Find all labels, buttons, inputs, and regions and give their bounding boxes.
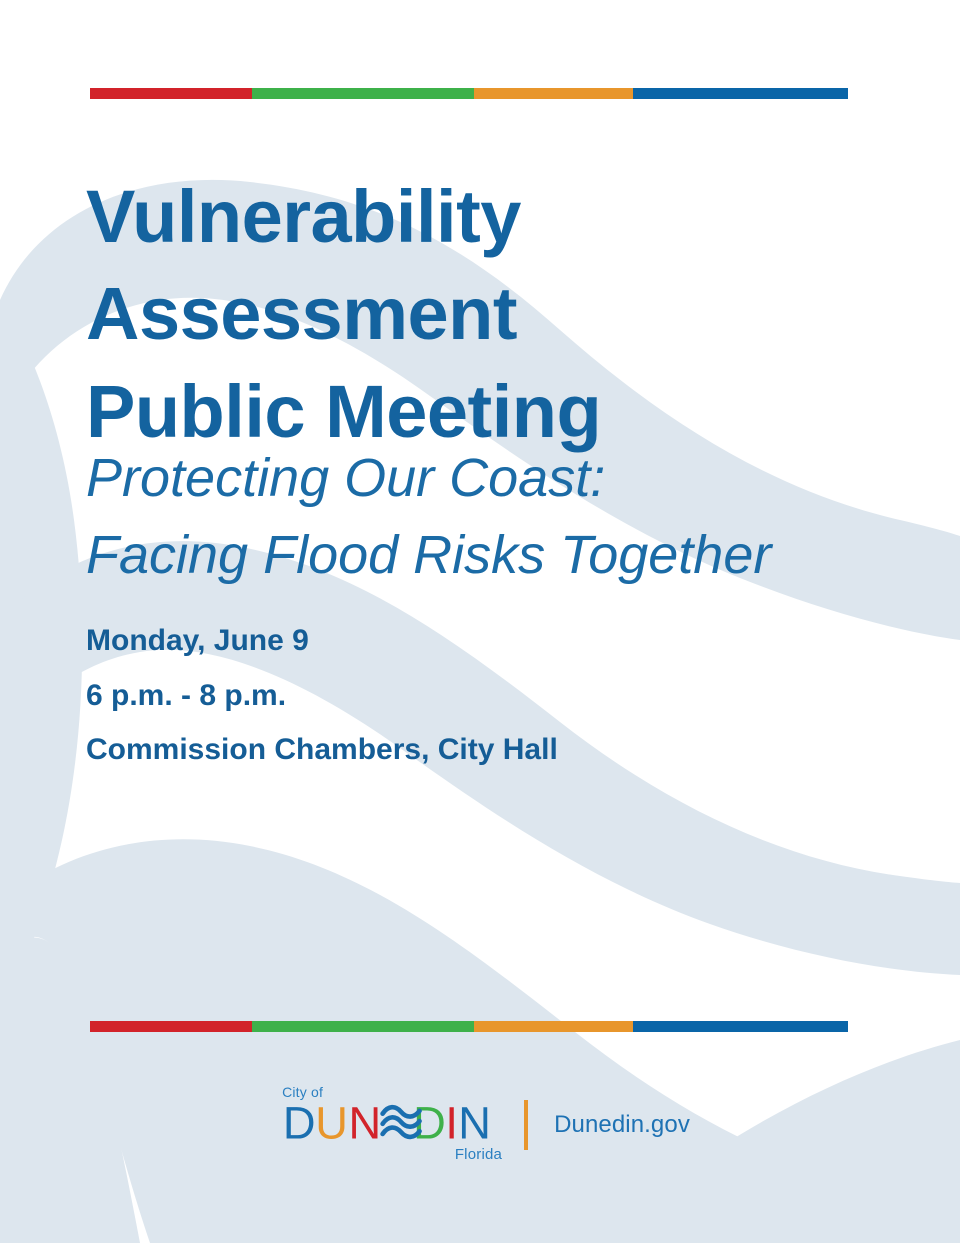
page-subtitle: Protecting Our Coast: Facing Flood Risks… xyxy=(86,440,906,593)
logo-letter-i: I xyxy=(445,1098,458,1146)
poster-page: Vulnerability Assessment Public Meeting … xyxy=(0,0,960,1243)
page-subtitle-line-1: Protecting Our Coast: xyxy=(86,440,906,517)
dunedin-logo: City of D U N D I N xyxy=(270,1082,502,1168)
event-time: 6 p.m. - 8 p.m. xyxy=(86,669,906,724)
poster-content: Vulnerability Assessment Public Meeting … xyxy=(0,0,960,1243)
page-title-line-1: Vulnerability xyxy=(86,168,886,266)
footer-website-url[interactable]: Dunedin.gov xyxy=(554,1111,690,1139)
lockup-divider xyxy=(524,1100,528,1150)
logo-letter-d1: D xyxy=(283,1098,316,1146)
brand-rule-segment-green xyxy=(252,1021,473,1032)
event-date: Monday, June 9 xyxy=(86,614,906,669)
brand-rule-segment-blue xyxy=(633,88,848,99)
logo-letter-u: U xyxy=(315,1098,348,1146)
brand-rule-segment-blue xyxy=(633,1021,848,1032)
brand-rule-segment-orange xyxy=(474,1021,634,1032)
brand-rule-bottom xyxy=(90,1021,848,1032)
page-title-line-2: Assessment xyxy=(86,265,886,363)
event-details: Monday, June 9 6 p.m. - 8 p.m. Commissio… xyxy=(86,614,906,778)
brand-rule-top xyxy=(90,88,848,99)
logo-state-label: Florida xyxy=(455,1146,502,1163)
page-subtitle-line-2: Facing Flood Risks Together xyxy=(86,517,906,594)
brand-rule-segment-red xyxy=(90,1021,252,1032)
footer-lockup: City of D U N D I N xyxy=(0,1082,960,1168)
logo-wordmark-dunedin: D U N D I N xyxy=(278,1098,502,1146)
logo-letter-n1: N xyxy=(349,1098,382,1146)
brand-rule-segment-red xyxy=(90,88,252,99)
page-title: Vulnerability Assessment Public Meeting xyxy=(86,168,886,461)
event-location: Commission Chambers, City Hall xyxy=(86,723,906,778)
brand-rule-segment-orange xyxy=(474,88,634,99)
brand-rule-segment-green xyxy=(252,88,473,99)
logo-letter-n2: N xyxy=(458,1098,491,1146)
